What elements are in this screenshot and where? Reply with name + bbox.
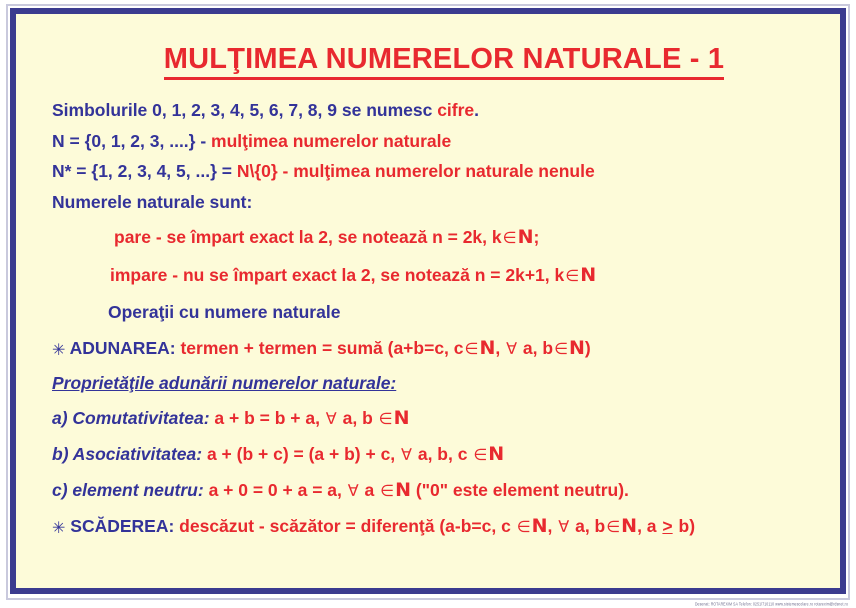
greater-equal-icon: >: [661, 516, 673, 536]
line-symbols-period: .: [474, 100, 479, 120]
element-of-icon: ∈: [472, 445, 488, 464]
for-all-icon: ∀: [325, 409, 338, 428]
line-commutativity: a) Comutativitatea: a + b = b + a, ∀ a, …: [52, 409, 856, 428]
line-subtraction: ✳ SCĂDEREA: descăzut - scăzător = difere…: [52, 517, 856, 536]
line-addition-set1: N: [479, 337, 495, 359]
poster-page: MULŢIMEA NUMERELOR NATURALE - 1 Simbolur…: [0, 0, 856, 608]
line-even: pare - se împart exact la 2, se notează …: [52, 228, 856, 247]
line-set-n-star-part2: N\{0} - mulţimea numerelor naturale nenu…: [237, 161, 595, 181]
line-properties-heading: Proprietăţile adunării numerelor natural…: [52, 375, 856, 393]
element-of-icon: ∈: [605, 517, 621, 536]
line-associativity-set: N: [488, 443, 504, 465]
for-all-icon: ∀: [557, 517, 570, 536]
line-even-text: pare - se împart exact la 2, se notează …: [114, 227, 502, 247]
line-subtraction-comma: ,: [548, 516, 558, 536]
page-title: MULŢIMEA NUMERELOR NATURALE - 1: [32, 43, 856, 76]
line-odd: impare - nu se împart exact la 2, se not…: [52, 266, 856, 285]
line-associativity-formula: a + (b + c) = (a + b) + c,: [202, 444, 400, 464]
line-commutativity-vars: a, b: [338, 408, 378, 428]
line-set-n-star-part1: N* = {1, 2, 3, 4, 5, ...} =: [52, 161, 237, 181]
poster-content: MULŢIMEA NUMERELOR NATURALE - 1 Simbolur…: [32, 28, 856, 602]
line-set-n-part2: mulţimea numerelor naturale: [211, 131, 451, 151]
line-addition-text: termen + termen = sumă (a+b=c, c: [180, 338, 463, 358]
element-of-icon: ∈: [564, 266, 580, 285]
line-addition: ✳ ADUNAREA: termen + termen = sumă (a+b=…: [52, 339, 856, 358]
line-neutral-element-var: a: [360, 480, 379, 500]
line-subtraction-set1: N: [532, 515, 548, 537]
line-odd-set: N: [580, 264, 596, 286]
line-commutativity-formula: a + b = b + a,: [210, 408, 325, 428]
line-commutativity-set: N: [394, 407, 410, 429]
line-commutativity-label: a) Comutativitatea:: [52, 408, 210, 428]
element-of-icon: ∈: [516, 517, 532, 536]
line-associativity: b) Asociativitatea: a + (b + c) = (a + b…: [52, 445, 856, 464]
line-odd-text: impare - nu se împart exact la 2, se not…: [110, 265, 564, 285]
line-neutral-element-formula: a + 0 = 0 + a = a,: [204, 480, 347, 500]
line-symbols-emphasis: cifre: [437, 100, 474, 120]
line-subtraction-set2: N: [621, 515, 637, 537]
line-addition-set2: N: [569, 337, 585, 359]
star-icon: ✳: [52, 518, 65, 537]
poster-border: MULŢIMEA NUMERELOR NATURALE - 1 Simbolur…: [10, 8, 846, 594]
line-addition-label: ADUNAREA:: [65, 338, 180, 358]
line-subtraction-close: b): [674, 516, 695, 536]
element-of-icon: ∈: [378, 409, 394, 428]
line-subtraction-text: descăzut - scăzător = diferenţă (a-b=c, …: [179, 516, 516, 536]
line-subtraction-vars: a, b: [570, 516, 605, 536]
star-icon: ✳: [52, 340, 65, 359]
line-set-n-star: N* = {1, 2, 3, 4, 5, ...} = N\{0} - mulţ…: [52, 163, 856, 181]
line-addition-vars: a, b: [518, 338, 553, 358]
line-subtraction-label: SCĂDEREA:: [65, 516, 179, 536]
line-addition-comma: ,: [495, 338, 505, 358]
element-of-icon: ∈: [553, 339, 569, 358]
line-neutral-element: c) element neutru: a + 0 = 0 + a = a, ∀ …: [52, 481, 856, 500]
element-of-icon: ∈: [464, 339, 480, 358]
line-even-end: ;: [533, 227, 539, 247]
line-operations-heading: Operaţii cu numere naturale: [52, 304, 856, 322]
publisher-credit: Desenat: ROTAREXIM SA Telefon: 0251/7101…: [695, 601, 848, 607]
element-of-icon: ∈: [502, 228, 518, 247]
line-addition-close: ): [585, 338, 591, 358]
line-even-set: N: [518, 226, 534, 248]
line-neutral-element-set: N: [395, 479, 411, 501]
line-properties-heading-text: Proprietăţile adunării numerelor natural…: [52, 373, 396, 393]
line-set-n-part1: N = {0, 1, 2, 3, ....} -: [52, 131, 211, 151]
line-associativity-label: b) Asociativitatea:: [52, 444, 202, 464]
for-all-icon: ∀: [347, 481, 360, 500]
line-subtraction-tail: , a: [637, 516, 661, 536]
page-title-text: MULŢIMEA NUMERELOR NATURALE - 1: [164, 43, 724, 80]
line-neutral-element-label: c) element neutru:: [52, 480, 204, 500]
line-symbols: Simbolurile 0, 1, 2, 3, 4, 5, 6, 7, 8, 9…: [52, 102, 856, 120]
line-set-n: N = {0, 1, 2, 3, ....} - mulţimea numere…: [52, 133, 856, 151]
lesson-body: Simbolurile 0, 1, 2, 3, 4, 5, 6, 7, 8, 9…: [32, 102, 856, 536]
for-all-icon: ∀: [505, 339, 518, 358]
line-associativity-vars: a, b, c: [413, 444, 472, 464]
line-symbols-part1: Simbolurile 0, 1, 2, 3, 4, 5, 6, 7, 8, 9…: [52, 100, 437, 120]
element-of-icon: ∈: [379, 481, 395, 500]
line-neutral-element-note: ("0" este element neutru).: [411, 480, 629, 500]
for-all-icon: ∀: [400, 445, 413, 464]
line-naturals-are: Numerele naturale sunt:: [52, 194, 856, 212]
